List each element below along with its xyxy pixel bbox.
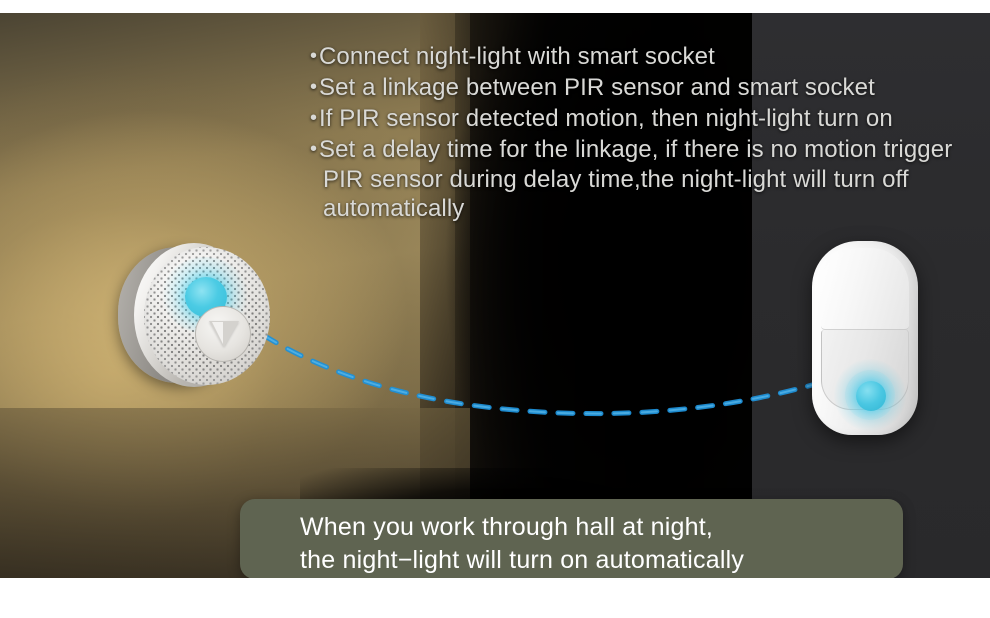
bullet-item: •Set a delay time for the linkage, if th… xyxy=(310,134,980,165)
caption-line-2: the night−light will turn on automatical… xyxy=(300,544,900,577)
bullet-text: Set a delay time for the linkage, if the… xyxy=(319,136,952,163)
bullet-item: •Connect night-light with smart socket xyxy=(310,41,980,72)
pir-sensor-device xyxy=(812,241,918,435)
bullet-continuation-line: automatically xyxy=(310,195,980,223)
bottom-white-margin xyxy=(0,578,990,618)
bullet-continuation-line: PIR sensor during delay time,the night-l… xyxy=(310,165,980,195)
bullet-text: If PIR sensor detected motion, then nigh… xyxy=(319,105,893,132)
pir-lens-indicator-icon xyxy=(856,381,886,411)
infographic-stage: •Connect night-light with smart socket •… xyxy=(0,0,990,618)
nightlight-center-button[interactable] xyxy=(195,306,251,362)
bullet-marker-icon: • xyxy=(310,103,319,133)
top-white-margin xyxy=(0,0,990,13)
bullet-marker-icon: • xyxy=(310,41,319,71)
photo-scene: •Connect night-light with smart socket •… xyxy=(0,13,990,578)
feature-bullet-list: •Connect night-light with smart socket •… xyxy=(310,41,980,223)
nightlight-device xyxy=(118,241,273,391)
caption-banner: When you work through hall at night, the… xyxy=(240,499,903,578)
caption-text-block: When you work through hall at night, the… xyxy=(300,511,900,577)
bullet-marker-icon: • xyxy=(310,134,319,164)
bullet-text: Set a linkage between PIR sensor and sma… xyxy=(319,74,875,101)
caption-line-1: When you work through hall at night, xyxy=(300,511,900,544)
bullet-item: •Set a linkage between PIR sensor and sm… xyxy=(310,72,980,103)
bullet-marker-icon: • xyxy=(310,72,319,102)
play-triangle-highlight-icon xyxy=(212,322,223,344)
bullet-text: Connect night-light with smart socket xyxy=(319,43,715,70)
pir-sensor-top-panel xyxy=(821,248,909,330)
bullet-item: •If PIR sensor detected motion, then nig… xyxy=(310,103,980,134)
